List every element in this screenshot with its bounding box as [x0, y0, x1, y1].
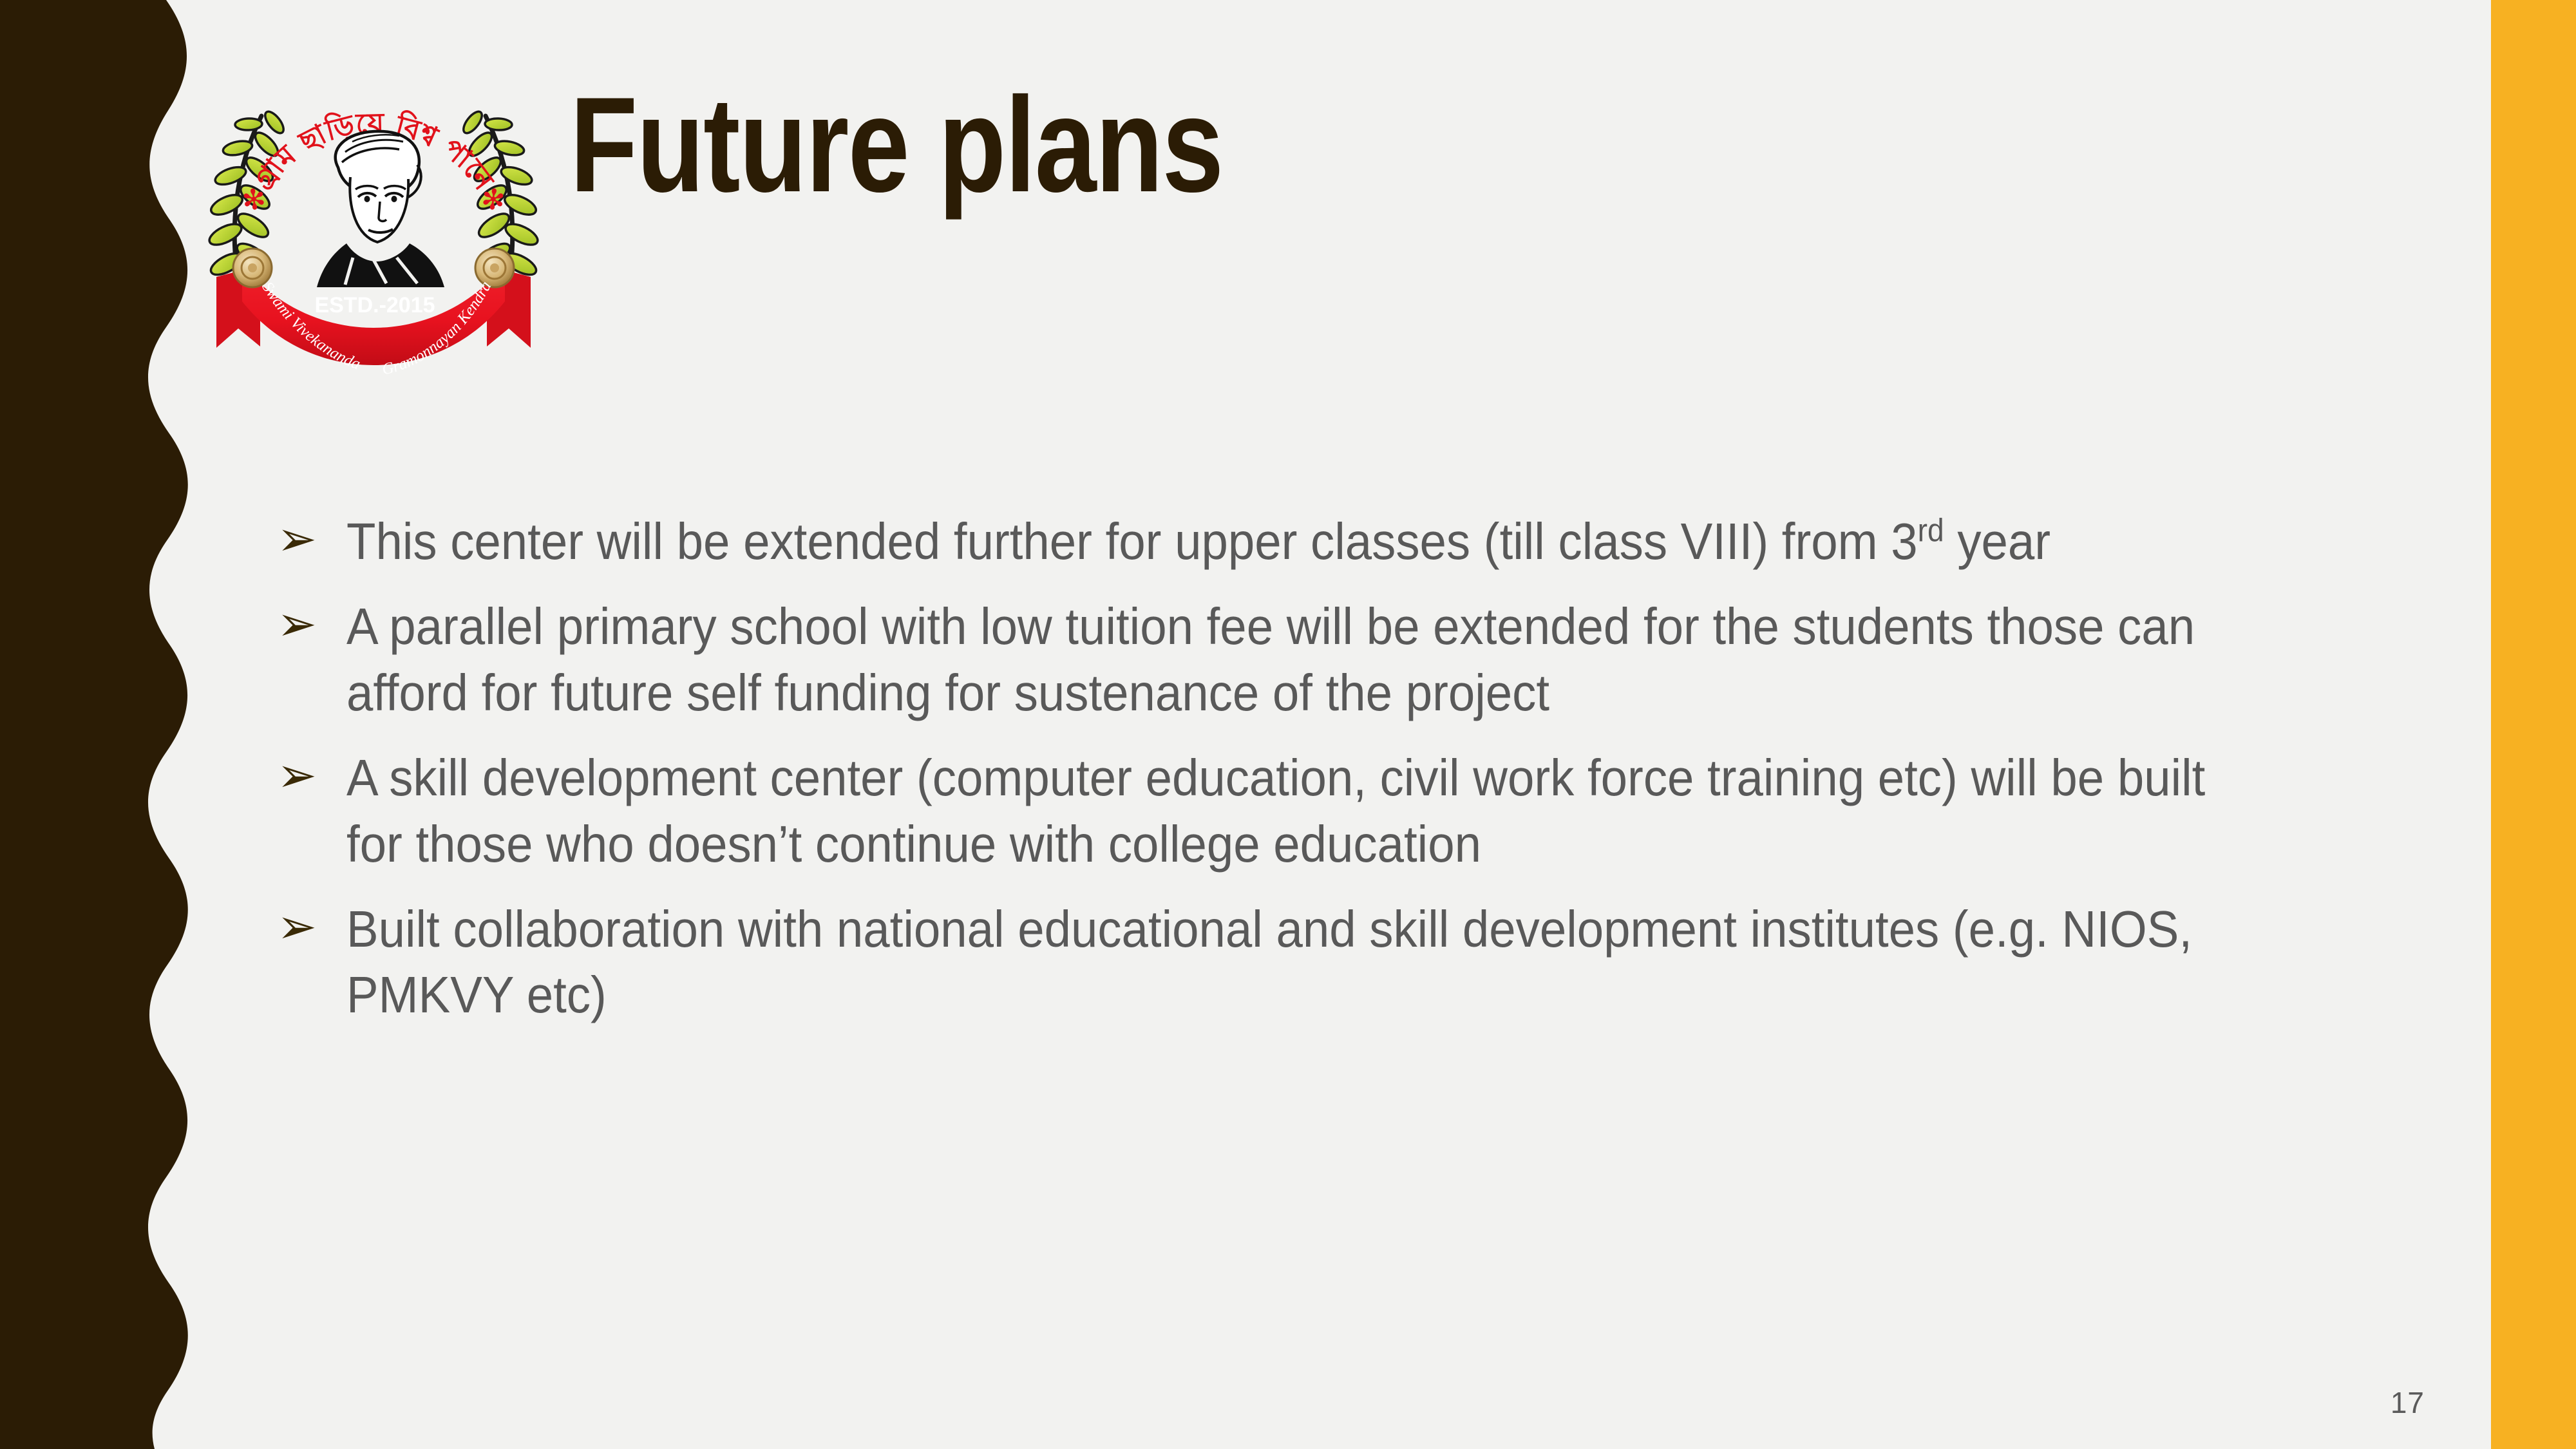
- arrow-bullet-icon: ➢: [277, 509, 346, 570]
- left-wave-decoration: [0, 0, 193, 1449]
- arrow-bullet-icon: ➢: [277, 594, 346, 655]
- list-item-text: A skill development center (computer edu…: [346, 745, 2228, 877]
- organization-logo: ✻গ্রাম ছাড়িয়ে বিশ্ব পানে✻: [193, 71, 554, 386]
- list-item-text: Built collaboration with national educat…: [346, 896, 2228, 1028]
- logo-established-text: ESTD.-2015: [314, 293, 435, 317]
- list-item-text: A parallel primary school with low tuiti…: [346, 594, 2228, 726]
- list-item-text: This center will be extended further for…: [346, 509, 2228, 574]
- list-item-text-part2: year: [1944, 513, 2050, 570]
- presentation-slide: ✻গ্রাম ছাড়িয়ে বিশ্ব পানে✻: [0, 0, 2576, 1449]
- page-number: 17: [2391, 1385, 2425, 1420]
- list-item-text-part1: This center will be extended further for…: [346, 513, 1918, 570]
- list-item: ➢ A parallel primary school with low tui…: [277, 594, 2370, 726]
- list-item: ➢ A skill development center (computer e…: [277, 745, 2370, 877]
- list-item: ➢ This center will be extended further f…: [277, 509, 2370, 574]
- page-title: Future plans: [570, 77, 1223, 213]
- right-amber-strip: [2491, 0, 2576, 1449]
- ordinal-suffix: rd: [1918, 512, 1944, 548]
- arrow-bullet-icon: ➢: [277, 745, 346, 806]
- arrow-bullet-icon: ➢: [277, 896, 346, 958]
- list-item: ➢ Built collaboration with national educ…: [277, 896, 2370, 1028]
- vivekananda-portrait-icon: [317, 131, 444, 287]
- bullet-list: ➢ This center will be extended further f…: [277, 509, 2370, 1048]
